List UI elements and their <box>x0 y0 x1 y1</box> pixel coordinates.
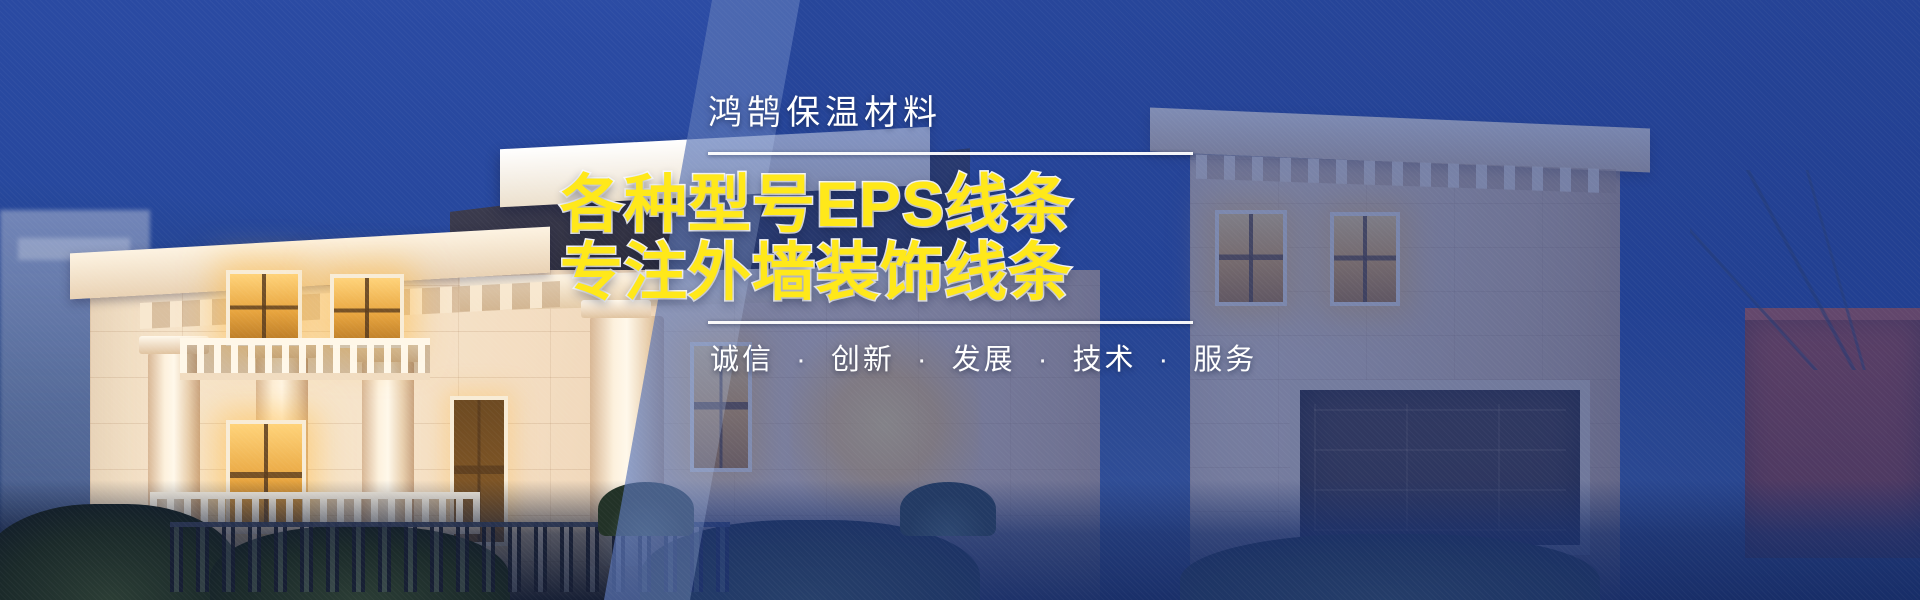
divider-bottom <box>708 321 1193 324</box>
tagline-item-0: 诚信 <box>710 344 774 376</box>
headline-line-1: 各种型号EPS线条 <box>560 171 1260 239</box>
balcony-balustrade <box>180 338 430 380</box>
banner-copy: 鸿鹄保温材料 各种型号EPS线条 专注外墙装饰线条 诚信 · 创新 · 发展 ·… <box>560 96 1260 375</box>
hero-banner: 鸿鹄保温材料 各种型号EPS线条 专注外墙装饰线条 诚信 · 创新 · 发展 ·… <box>0 0 1920 600</box>
brand-name: 鸿鹄保温材料 <box>708 96 1260 130</box>
lit-window <box>330 274 404 348</box>
tagline-separator: · <box>1159 344 1172 376</box>
tagline-separator: · <box>917 344 930 376</box>
tagline-item-2: 发展 <box>952 344 1016 376</box>
headline: 各种型号EPS线条 专注外墙装饰线条 <box>560 171 1260 307</box>
tagline-separator: · <box>796 344 809 376</box>
tagline-item-3: 技术 <box>1072 344 1136 376</box>
headline-line-2: 专注外墙装饰线条 <box>560 239 1260 307</box>
tagline-separator: · <box>1038 344 1051 376</box>
tagline: 诚信 · 创新 · 发展 · 技术 · 服务 <box>708 346 1260 375</box>
divider-top <box>708 152 1193 155</box>
tagline-item-1: 创新 <box>831 344 895 376</box>
lit-window <box>226 270 302 346</box>
tagline-item-4: 服务 <box>1193 344 1257 376</box>
